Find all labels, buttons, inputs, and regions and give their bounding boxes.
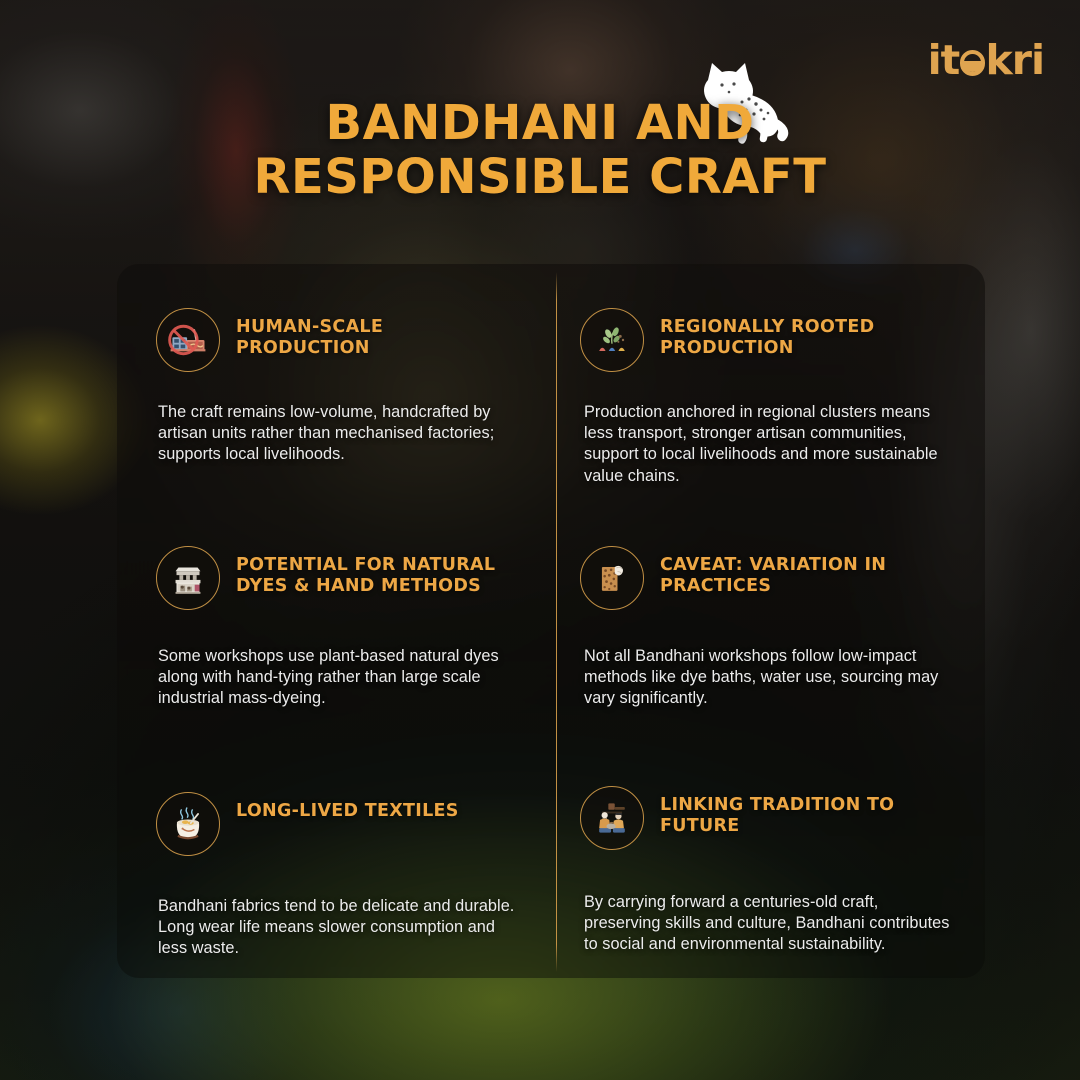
- block-body: Not all Bandhani workshops follow low-im…: [584, 646, 955, 710]
- block-head: LINKING TRADITION TO FUTURE: [580, 786, 955, 858]
- poster-title: BANDHANI AND RESPONSIBLE CRAFT: [0, 96, 1080, 204]
- block-title: POTENTIAL FOR NATURAL DYES & HAND METHOD…: [236, 546, 518, 598]
- basket-o-icon: [960, 50, 985, 75]
- plant-dye-mounds-icon: [580, 308, 644, 372]
- block-body: Bandhani fabrics tend to be delicate and…: [158, 896, 518, 960]
- block-head: REGIONALLY ROOTED PRODUCTION: [580, 308, 955, 380]
- title-line-2: RESPONSIBLE CRAFT: [0, 150, 1080, 204]
- workshop-building-icon: [156, 546, 220, 610]
- block-regionally-rooted-production: REGIONALLY ROOTED PRODUCTION Production …: [556, 264, 985, 502]
- block-title: REGIONALLY ROOTED PRODUCTION: [660, 308, 955, 360]
- no-factory-icon: [156, 308, 220, 372]
- poster-header: itkri BANDHANI AND RESPONSIBLE CRAF: [0, 0, 1080, 264]
- title-line-1: BANDHANI AND: [0, 96, 1080, 150]
- block-title: CAVEAT: VARIATION IN PRACTICES: [660, 546, 955, 598]
- blocks-grid: HUMAN-SCALE PRODUCTION The craft remains…: [117, 264, 985, 978]
- block-title: HUMAN-SCALE PRODUCTION: [236, 308, 518, 360]
- block-body: Production anchored in regional clusters…: [584, 402, 955, 487]
- block-natural-dyes-hand-methods: POTENTIAL FOR NATURAL DYES & HAND METHOD…: [117, 502, 556, 740]
- logo-text-after: kri: [985, 36, 1044, 84]
- block-title: LINKING TRADITION TO FUTURE: [660, 786, 955, 838]
- block-head: CAVEAT: VARIATION IN PRACTICES: [580, 546, 955, 618]
- block-human-scale-production: HUMAN-SCALE PRODUCTION The craft remains…: [117, 264, 556, 502]
- hand-holding-fabric-icon: [580, 546, 644, 610]
- block-body: By carrying forward a centuries-old craf…: [584, 892, 955, 956]
- block-long-lived-textiles: LONG-LIVED TEXTILES Bandhani fabrics ten…: [117, 740, 556, 978]
- two-artisans-icon: [580, 786, 644, 850]
- itokri-logo[interactable]: itkri: [928, 40, 1044, 81]
- block-linking-tradition-to-future: LINKING TRADITION TO FUTURE By carrying …: [556, 740, 985, 978]
- block-head: LONG-LIVED TEXTILES: [156, 792, 518, 864]
- block-head: POTENTIAL FOR NATURAL DYES & HAND METHOD…: [156, 546, 518, 618]
- block-caveat-variation-practices: CAVEAT: VARIATION IN PRACTICES Not all B…: [556, 502, 985, 740]
- infographic-poster: itkri BANDHANI AND RESPONSIBLE CRAF: [0, 0, 1080, 1080]
- block-body: Some workshops use plant-based natural d…: [158, 646, 518, 710]
- block-head: HUMAN-SCALE PRODUCTION: [156, 308, 518, 380]
- logo-text-before: it: [928, 36, 960, 84]
- steaming-dye-pot-icon: [156, 792, 220, 856]
- content-card: HUMAN-SCALE PRODUCTION The craft remains…: [117, 264, 985, 978]
- block-title: LONG-LIVED TEXTILES: [236, 792, 459, 822]
- block-body: The craft remains low-volume, handcrafte…: [158, 402, 518, 466]
